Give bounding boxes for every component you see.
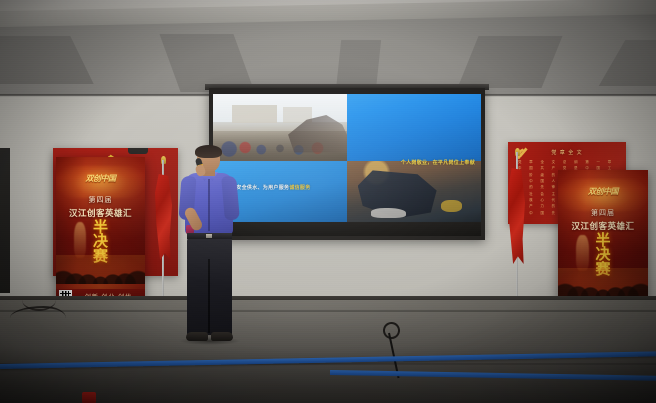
- banner-line2: 汉江创客英雄汇: [56, 207, 145, 219]
- trouser-seam: [208, 259, 210, 333]
- presenter-shoe-right: [211, 332, 233, 341]
- screen-pull-tab: [128, 148, 148, 154]
- presentation-slide: 个人岗敬业，在平凡岗位上奉献 作安全供水、为用户服务诚信服务: [213, 94, 481, 222]
- red-flag-right: [503, 152, 531, 304]
- banner-logo: 双创中国: [61, 167, 139, 189]
- banner-line2: 汉江创客英雄汇: [558, 220, 648, 232]
- projection-screen: 个人岗敬业，在平凡岗位上奉献 作安全供水、为用户服务诚信服务: [209, 88, 485, 240]
- banner-crowd-graphic: [558, 268, 648, 298]
- screen-lower-border: [213, 222, 481, 236]
- banner-crowd-graphic: [56, 255, 145, 285]
- microphone-stand-clip: [383, 322, 398, 342]
- red-floor-object: [82, 392, 96, 403]
- banner-torch-graphic: [74, 222, 86, 258]
- floor-shading: [0, 300, 656, 403]
- rollup-banner-left: 双创中国 第四届 汉江创客英雄汇 半 决 赛 创新 创业 创优 主办单位：襄阳市…: [56, 157, 145, 305]
- presenter: [178, 147, 240, 343]
- flag-cloth: [155, 174, 172, 260]
- shirt-placket: [208, 179, 210, 231]
- banner-line1: 第四届: [56, 195, 145, 205]
- flag-cloth: [508, 168, 525, 264]
- wall-dark-panel: [0, 148, 10, 293]
- presenter-shoe-left: [186, 332, 208, 341]
- poster-title: 党 章 全 文: [551, 149, 582, 156]
- presenter-sleeve-right: [221, 175, 240, 220]
- slide-photo-worker: [347, 161, 481, 222]
- red-flag-left: [150, 160, 176, 300]
- presenter-hair: [195, 145, 222, 158]
- belt-buckle: [206, 234, 212, 238]
- banner-line1: 第四届: [558, 208, 648, 218]
- banner-torch-graphic: [576, 235, 589, 271]
- photo-scene: 党 章 全 文 党章全文总纲第一章 中国共产党是中国工 人阶级的先锋队同时 是中…: [0, 0, 656, 403]
- slide-caption-middle: 作安全供水、为用户服务诚信服务: [231, 184, 311, 191]
- banner-logo: 双创中国: [563, 180, 642, 202]
- slide-blue-panel: [347, 94, 481, 161]
- slide-caption-top: 个人岗敬业，在平凡岗位上奉献: [401, 159, 475, 166]
